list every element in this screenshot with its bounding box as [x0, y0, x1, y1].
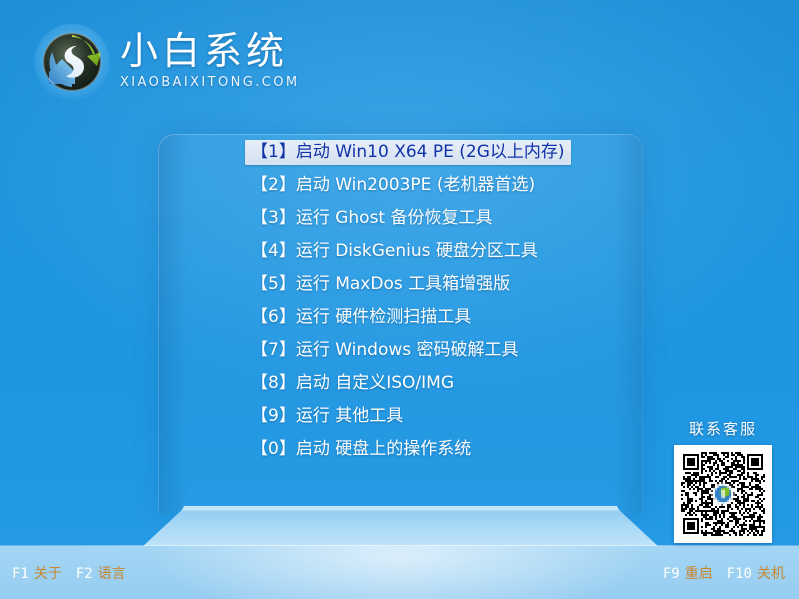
brand-logo: 小白系统 XIAOBAIXITONG.COM: [34, 24, 299, 100]
menu-item-6[interactable]: 【6】运行 硬件检测扫描工具: [245, 305, 477, 330]
boot-menu-screen: 小白系统 XIAOBAIXITONG.COM 【1】启动 Win10 X64 P…: [0, 0, 799, 599]
brand-name-cn: 小白系统: [120, 32, 299, 72]
footer-hints-left: F1关于F2语言: [12, 563, 126, 583]
footer-action-f9[interactable]: 重启: [685, 566, 713, 582]
footer-key-f10: F10: [727, 566, 752, 582]
recycle-globe-logo-icon: [34, 24, 110, 100]
menu-item-5[interactable]: 【5】运行 MaxDos 工具箱增强版: [245, 272, 516, 297]
support-title: 联系客服: [672, 418, 774, 439]
footer-action-f10[interactable]: 关机: [757, 566, 785, 582]
boot-menu-list: 【1】启动 Win10 X64 PE (2G以上内存)【2】启动 Win2003…: [245, 140, 545, 470]
stage-wall-left-shade: [158, 134, 188, 514]
stage-wall-right-shade: [613, 134, 643, 514]
support-qr-block: 联系客服: [672, 418, 774, 543]
footer-key-f2: F2: [76, 566, 93, 582]
qr-code-icon[interactable]: [674, 445, 772, 543]
menu-item-9[interactable]: 【9】运行 其他工具: [245, 404, 409, 429]
menu-item-1[interactable]: 【1】启动 Win10 X64 PE (2G以上内存): [245, 140, 571, 165]
menu-item-3[interactable]: 【3】运行 Ghost 备份恢复工具: [245, 206, 499, 231]
brand-name-en: XIAOBAIXITONG.COM: [120, 75, 299, 90]
footer-hints-right: F9重启F10关机: [663, 563, 785, 583]
footer-action-f1[interactable]: 关于: [34, 566, 62, 582]
menu-item-7[interactable]: 【7】运行 Windows 密码破解工具: [245, 338, 525, 363]
menu-item-2[interactable]: 【2】启动 Win2003PE (老机器首选): [245, 173, 541, 198]
footer-key-f9: F9: [663, 566, 680, 582]
qr-code-canvas: [677, 448, 769, 540]
footer-action-f2[interactable]: 语言: [98, 566, 126, 582]
menu-item-4[interactable]: 【4】运行 DiskGenius 硬盘分区工具: [245, 239, 544, 264]
footer-key-f1: F1: [12, 566, 29, 582]
menu-item-0[interactable]: 【0】启动 硬盘上的操作系统: [245, 437, 477, 462]
menu-item-8[interactable]: 【8】启动 自定义ISO/IMG: [245, 371, 460, 396]
